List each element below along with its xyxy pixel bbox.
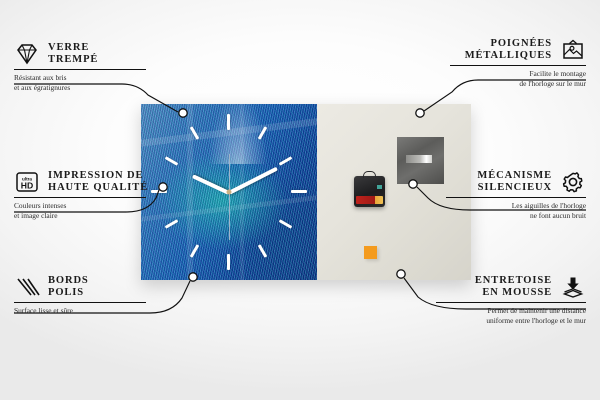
clock-second-hand	[229, 154, 230, 240]
feature-title-line1: VERRE	[48, 42, 98, 54]
feature-title-line1: IMPRESSION DE	[48, 170, 148, 182]
clock-tick	[291, 190, 307, 193]
feature-title-line2: SILENCIEUX	[477, 182, 552, 194]
mechanism-dial	[377, 185, 382, 189]
feature-title-line1: POIGNÉES	[465, 38, 552, 50]
svg-text:HD: HD	[21, 180, 33, 190]
foam-spacer	[364, 246, 377, 259]
feature-title-line2: HAUTE QUALITÉ	[48, 182, 148, 194]
clock-hub	[227, 190, 232, 195]
feature-titles: POIGNÉES MÉTALLIQUES	[465, 38, 552, 62]
feature-titles: IMPRESSION DE HAUTE QUALITÉ	[48, 170, 148, 194]
feature-sub-line2: uniforme entre l'horloge et le mur	[436, 316, 586, 327]
feature-rule	[446, 197, 586, 198]
foam-spacer-icon	[560, 276, 586, 298]
feature-head: MÉCANISME SILENCIEUX	[446, 170, 586, 194]
metal-hanger-plate	[397, 137, 444, 184]
feature-title-line2: TREMPÉ	[48, 54, 98, 66]
feature-sub-line1: Surface lisse et sûre	[14, 306, 146, 317]
feature-sub-line1: Résistant aux bris	[14, 73, 146, 84]
diamond-icon	[14, 43, 40, 65]
battery	[356, 196, 383, 204]
feature-sub-line2: ne font aucun bruit	[446, 211, 586, 222]
feature-rule	[14, 302, 146, 303]
feature-sub-line1: Couleurs intenses	[14, 201, 146, 212]
feature-titles: BORDS POLIS	[48, 275, 89, 299]
picture-hanger-icon	[560, 39, 586, 61]
clock-tick	[165, 219, 179, 229]
clock-tick	[165, 156, 179, 166]
feature-titles: MÉCANISME SILENCIEUX	[477, 170, 552, 194]
feature-sub-line1: Permet de maintenir une distance	[436, 306, 586, 317]
product-photo	[141, 104, 471, 280]
feature-head: ENTRETOISE EN MOUSSE	[436, 275, 586, 299]
feature-title-line1: MÉCANISME	[477, 170, 552, 182]
clock-tick	[227, 254, 230, 270]
feature-title-line1: BORDS	[48, 275, 89, 287]
clock-tick	[258, 244, 268, 258]
feature-title-line1: ENTRETOISE	[475, 275, 552, 287]
feature-head: ultra HD IMPRESSION DE HAUTE QUALITÉ	[14, 170, 146, 194]
clock-hour-hand	[192, 174, 230, 195]
feature-rule	[14, 69, 146, 70]
feature-head: POIGNÉES MÉTALLIQUES	[450, 38, 586, 62]
feature-sub-line2: et image claire	[14, 211, 146, 222]
feature-impression-haute-qualite[interactable]: ultra HD IMPRESSION DE HAUTE QUALITÉ Cou…	[14, 170, 146, 222]
gear-icon	[560, 171, 586, 193]
quartz-mechanism	[354, 176, 385, 207]
clock-tick	[279, 156, 293, 166]
ultra-hd-icon: ultra HD	[14, 171, 40, 193]
feature-sub-line1: Les aiguilles de l'horloge	[446, 201, 586, 212]
polished-edges-icon	[14, 276, 40, 298]
feature-rule	[436, 302, 586, 303]
hanger-slot	[406, 155, 432, 163]
feature-head: BORDS POLIS	[14, 275, 146, 299]
feature-title-line2: MÉTALLIQUES	[465, 50, 552, 62]
feature-title-line2: EN MOUSSE	[475, 287, 552, 299]
feature-bords-polis[interactable]: BORDS POLIS Surface lisse et sûre	[14, 275, 146, 316]
mechanism-hook	[363, 171, 376, 178]
feature-entretoise-en-mousse[interactable]: ENTRETOISE EN MOUSSE Permet de maintenir…	[436, 275, 586, 327]
feature-sub-line2: de l'horloge sur le mur	[450, 79, 586, 90]
clock-tick	[227, 114, 230, 130]
feature-rule	[14, 197, 146, 198]
feature-sub-line1: Facilite le montage	[450, 69, 586, 80]
clock-minute-hand	[228, 167, 278, 195]
feature-titles: VERRE TREMPÉ	[48, 42, 98, 66]
feature-titles: ENTRETOISE EN MOUSSE	[475, 275, 552, 299]
infographic-stage: VERRE TREMPÉ Résistant aux bris et aux é…	[0, 0, 600, 400]
feature-verre-trempe[interactable]: VERRE TREMPÉ Résistant aux bris et aux é…	[14, 42, 146, 94]
clock-face	[141, 104, 317, 280]
feature-title-line2: POLIS	[48, 287, 89, 299]
feature-mecanisme-silencieux[interactable]: MÉCANISME SILENCIEUX Les aiguilles de l'…	[446, 170, 586, 222]
clock-tick	[151, 190, 167, 193]
feature-sub-line2: et aux égratignures	[14, 83, 146, 94]
feature-poignees-metalliques[interactable]: POIGNÉES MÉTALLIQUES Facilite le montage…	[450, 38, 586, 90]
feature-head: VERRE TREMPÉ	[14, 42, 146, 66]
feature-rule	[450, 65, 586, 66]
clock-tick	[279, 219, 293, 229]
